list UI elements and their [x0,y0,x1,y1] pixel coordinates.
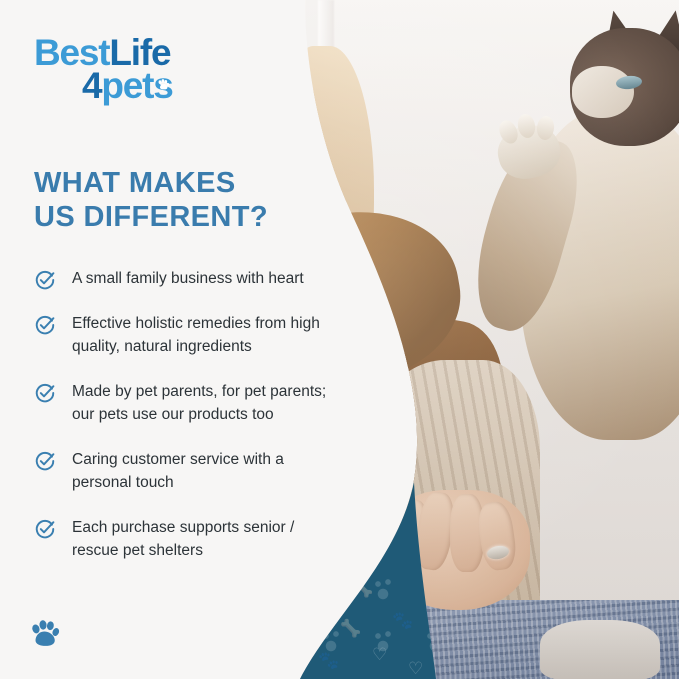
list-item: A small family business with heart [34,268,330,291]
list-item: Effective holistic remedies from high qu… [34,313,330,359]
list-item-label: Effective holistic remedies from high qu… [72,313,330,359]
list-item-label: Each purchase supports senior / rescue p… [72,517,330,563]
content-panel: BestLife 4pets WHAT MAKES US DIFFERENT [0,0,330,679]
logo-text-4: 4 [82,65,101,106]
page-title: WHAT MAKES US DIFFERENT? [34,166,330,234]
heart-pattern-icon: ♡ [372,646,387,663]
paw-print-icon [156,78,171,92]
list-item-label: Made by pet parents, for pet parents; ou… [72,381,330,427]
check-circle-icon [34,314,56,336]
list-item: Made by pet parents, for pet parents; ou… [34,381,330,427]
headline-line-2: US DIFFERENT? [34,200,330,234]
paw-print-icon [28,617,62,651]
check-circle-icon [34,382,56,404]
benefits-list: A small family business with heart Effec… [34,268,330,563]
paw-pattern-icon: 🐾 [392,612,413,629]
marketing-card: 🐾 🦴 ♡ 🐾 🦴 ♡ BestLife 4pets [0,0,679,679]
headline-line-1: WHAT MAKES [34,166,330,200]
check-circle-icon [34,269,56,291]
check-circle-icon [34,518,56,540]
bone-pattern-icon: 🦴 [352,580,373,597]
heart-pattern-icon: ♡ [408,660,423,677]
brand-logo[interactable]: BestLife 4pets [34,34,204,110]
list-item: Each purchase supports senior / rescue p… [34,517,330,563]
list-item: Caring customer service with a personal … [34,449,330,495]
list-item-label: A small family business with heart [72,268,304,291]
list-item-label: Caring customer service with a personal … [72,449,330,495]
bone-pattern-icon: 🦴 [340,620,361,637]
check-circle-icon [34,450,56,472]
